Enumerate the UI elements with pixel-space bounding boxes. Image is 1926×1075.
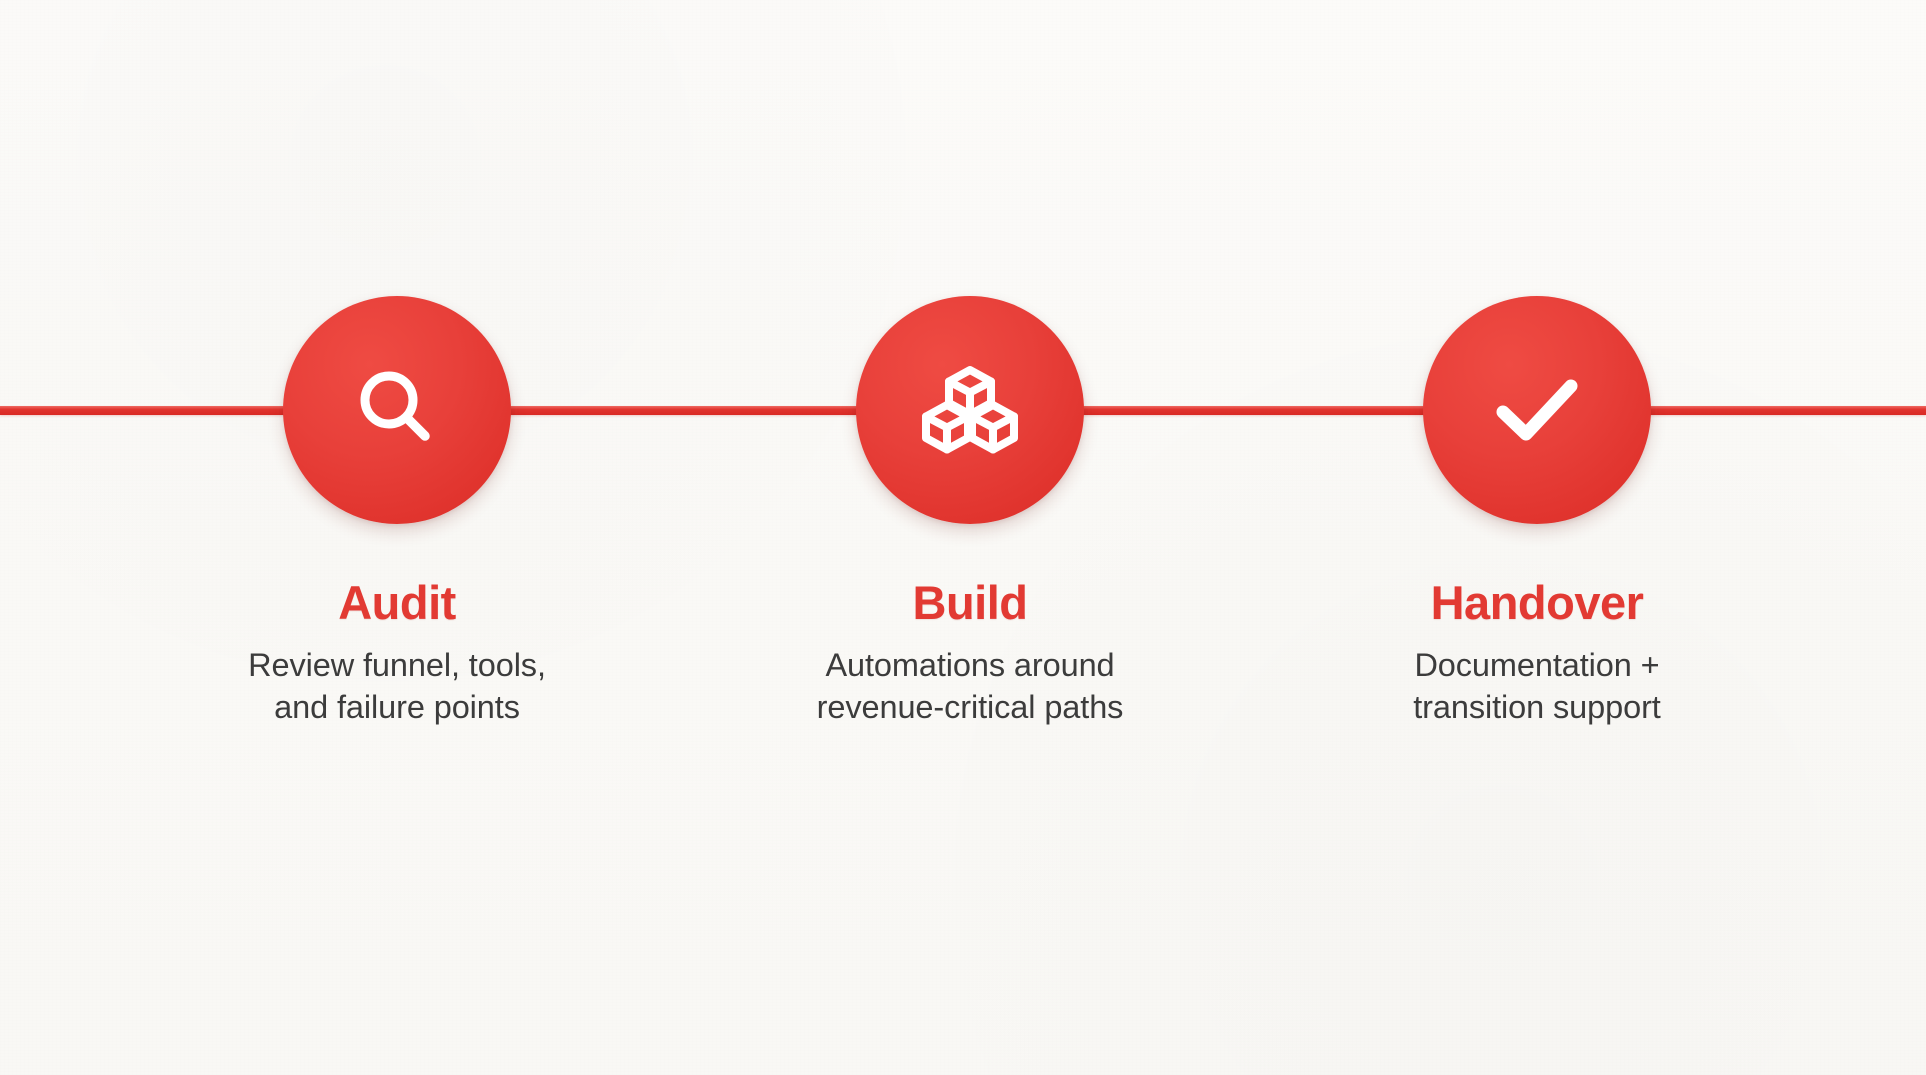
timeline-node-audit[interactable] (283, 296, 511, 524)
check-icon (1482, 355, 1592, 465)
search-icon (345, 358, 449, 462)
step-description-handover: Documentation + transition support (1307, 645, 1767, 728)
step-title-audit: Audit (167, 578, 627, 627)
paper-texture-overlay (0, 0, 1926, 1075)
step-title-build: Build (740, 578, 1200, 627)
step-description-build: Automations around revenue-critical path… (740, 645, 1200, 728)
timeline-node-build[interactable] (856, 296, 1084, 524)
cubes-icon (918, 358, 1022, 462)
infographic-canvas: Audit Review funnel, tools, and failure … (0, 0, 1926, 1075)
step-title-handover: Handover (1307, 578, 1767, 627)
step-description-audit: Review funnel, tools, and failure points (167, 645, 627, 728)
timeline-node-handover[interactable] (1423, 296, 1651, 524)
